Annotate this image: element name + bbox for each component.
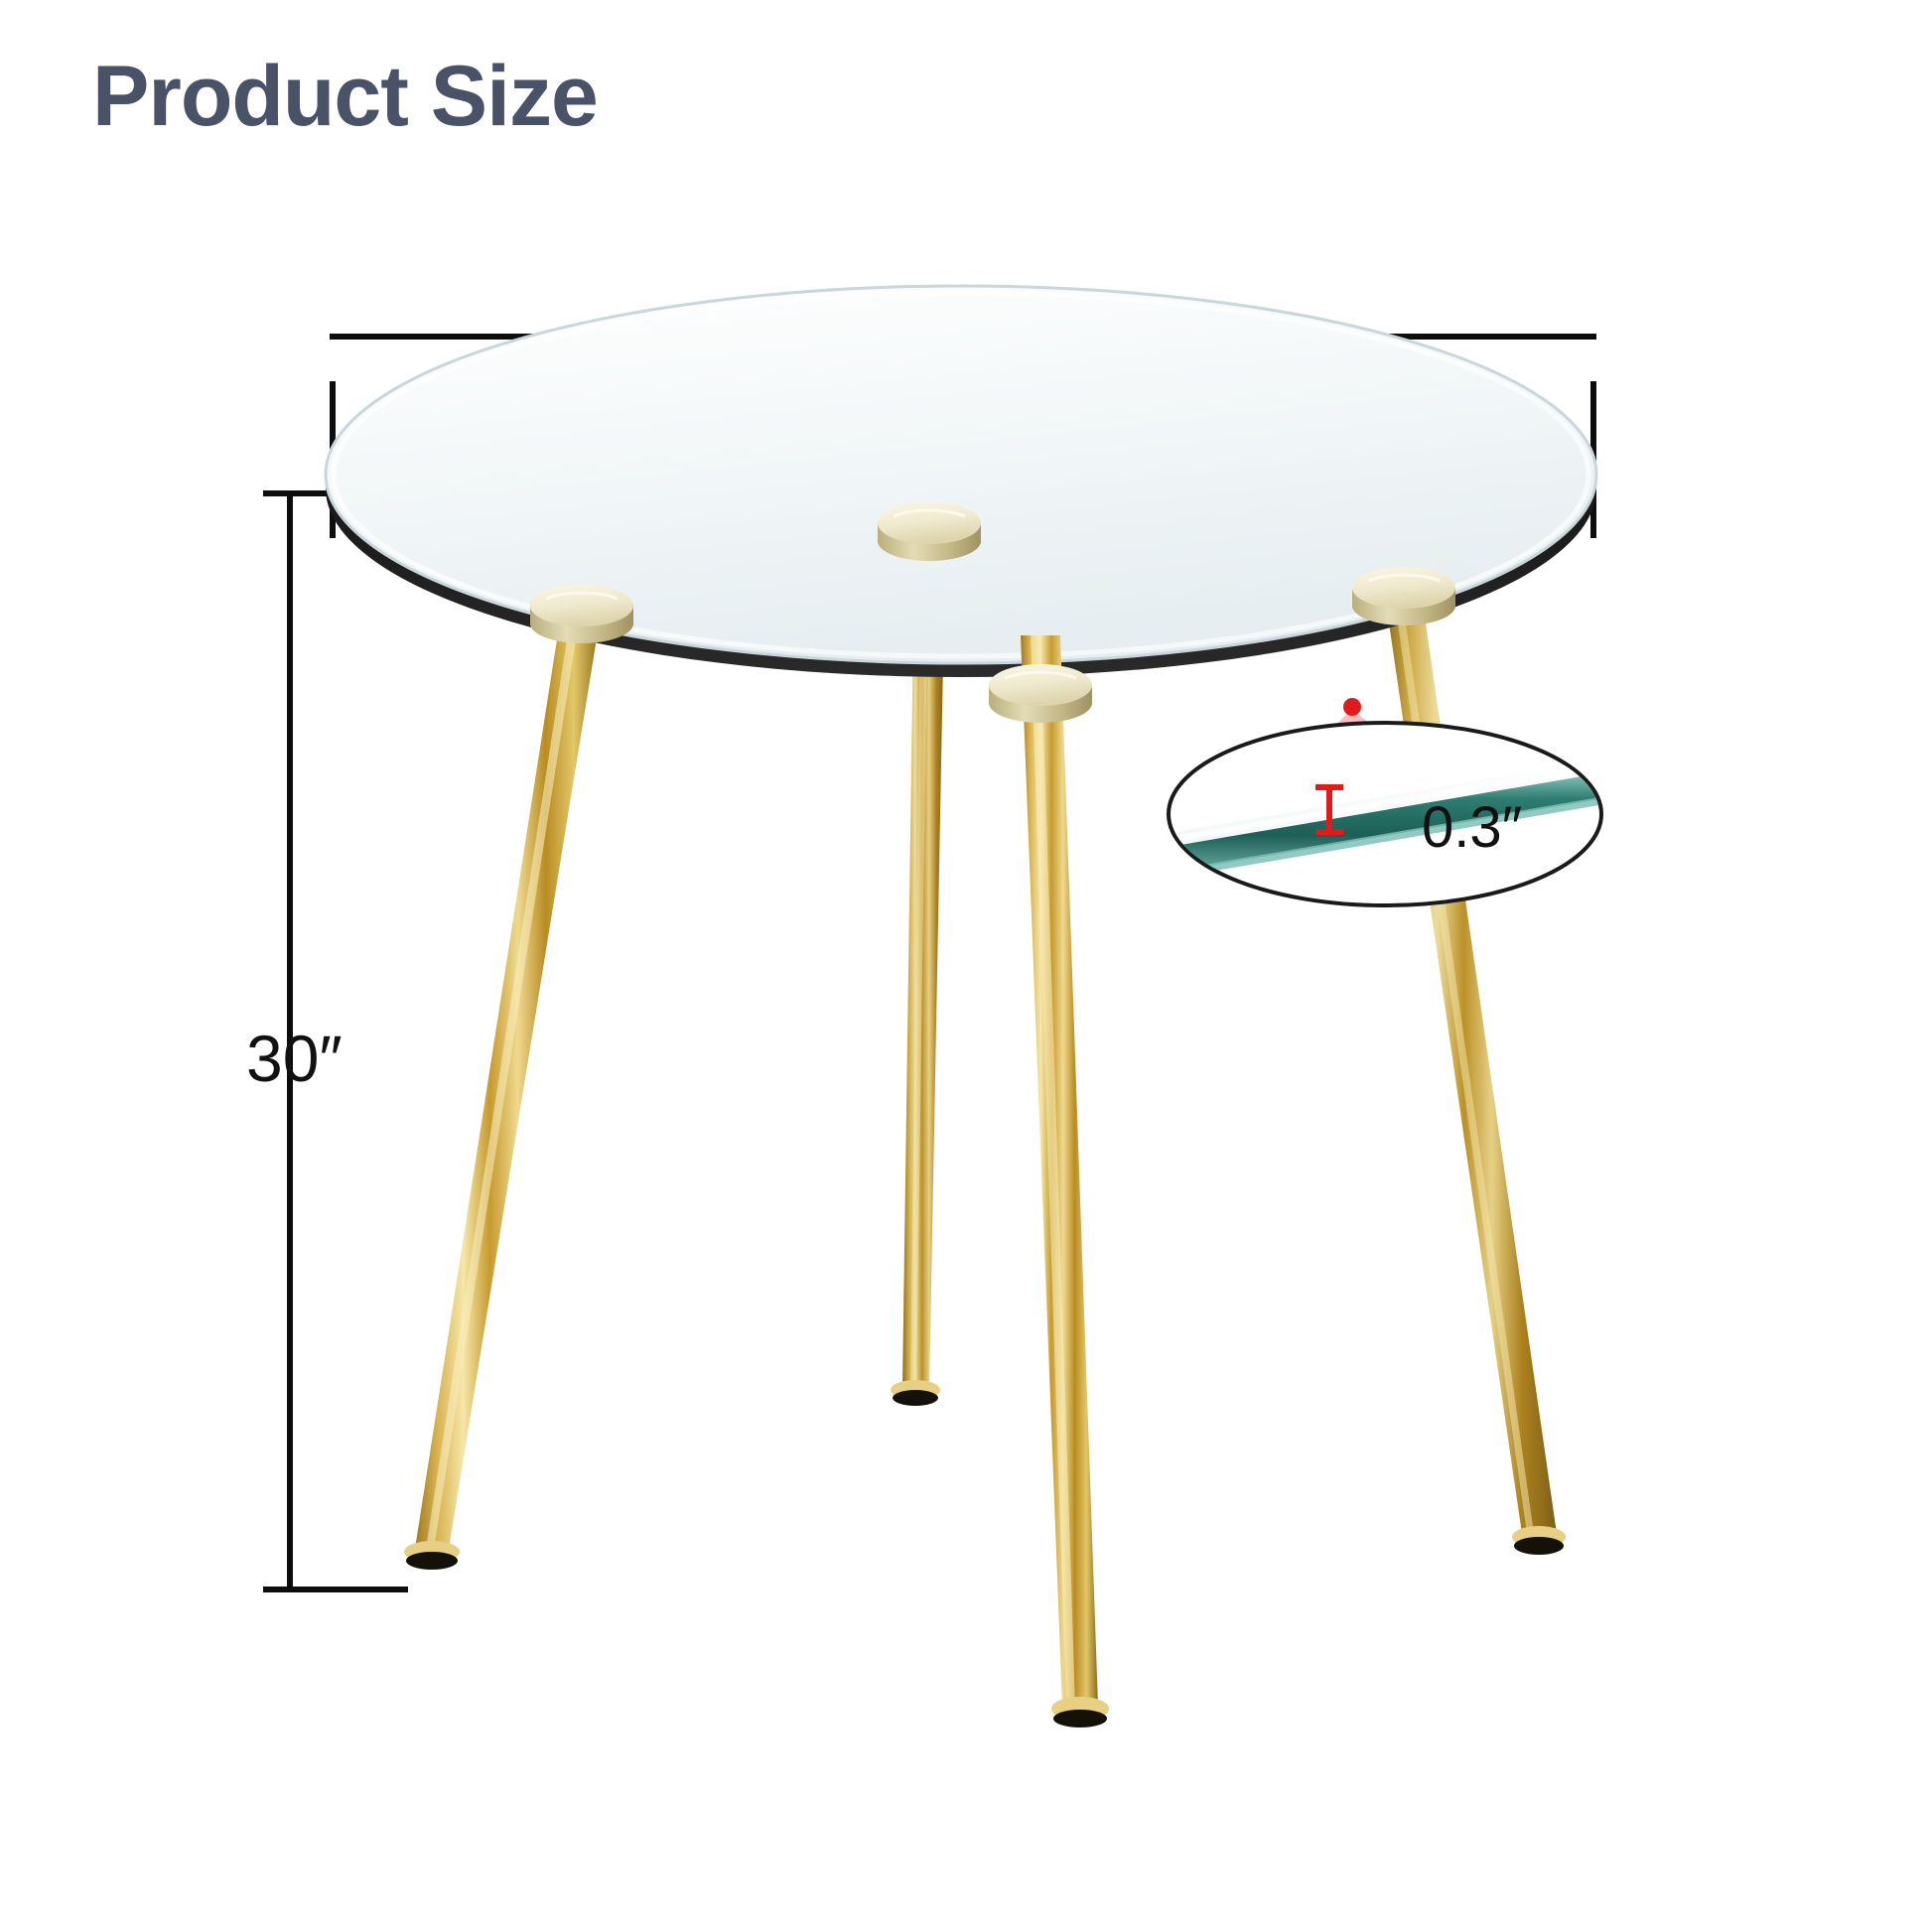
table-leg-front-left <box>404 608 602 1570</box>
leg-cap-front-center <box>989 664 1092 723</box>
table-leg-back-center <box>891 556 945 1406</box>
table-leg-front-center <box>1021 635 1109 1727</box>
page-title: Product Size <box>92 52 598 141</box>
diagram-canvas: Product Size Diameter:36″ 30″ <box>0 0 1932 1932</box>
magnifier-ellipse <box>1152 723 1628 905</box>
leg-cap-back-right <box>1352 567 1455 625</box>
diameter-label: Diameter:36″ <box>804 316 1184 391</box>
table-leg-back-right <box>1385 596 1566 1555</box>
thickness-label: 0.3″ <box>1422 794 1522 861</box>
thickness-marker <box>1315 787 1343 832</box>
diameter-tick-right <box>1590 381 1596 538</box>
magnifier-source-dot <box>1343 698 1361 716</box>
height-tick-top <box>263 490 408 496</box>
leg-cap-back-center <box>878 502 981 561</box>
leg-cap-front-left <box>530 585 633 643</box>
thickness-magnifier-callout <box>1152 698 1628 905</box>
height-label: 30″ <box>246 1021 343 1096</box>
height-tick-bottom <box>263 1587 408 1592</box>
diameter-tick-left <box>330 381 336 538</box>
